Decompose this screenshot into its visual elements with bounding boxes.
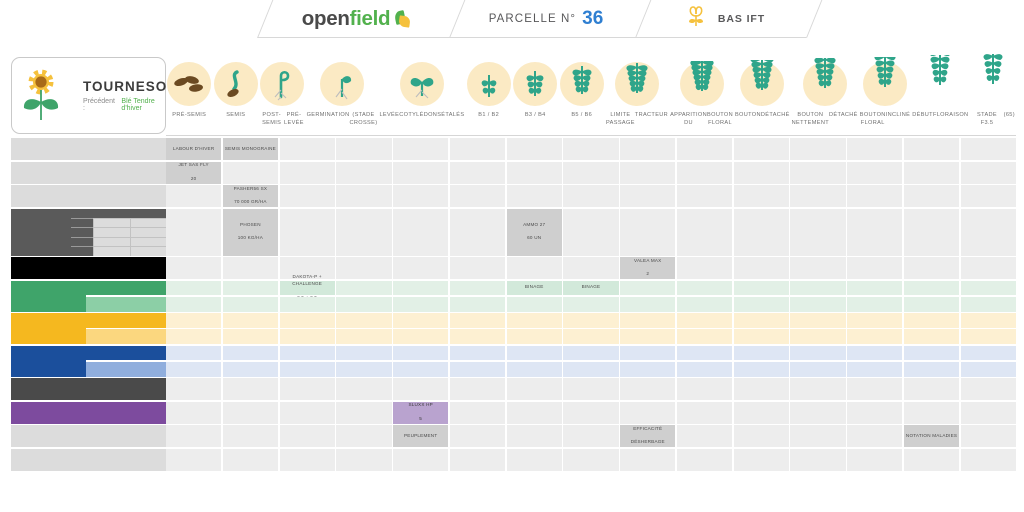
cell-row: JET SAS FLY20	[166, 162, 1016, 184]
cell-empty[interactable]	[961, 329, 1016, 344]
cell-empty[interactable]	[280, 313, 335, 328]
stage-column-4[interactable]: GERMINATION(STADE CROSSE)	[306, 44, 379, 136]
plant-6leaf-icon	[560, 62, 604, 106]
stage-column-3[interactable]: POST-SEMISPRÉ-LEVÉE	[259, 44, 306, 136]
plant-bud-icon	[680, 62, 724, 106]
cell-empty[interactable]	[961, 162, 1016, 184]
cell-empty[interactable]	[166, 185, 221, 207]
plant-tall-icon	[615, 62, 659, 106]
cell-empty[interactable]	[507, 297, 562, 312]
cell-empty[interactable]	[620, 281, 675, 296]
cell-empty[interactable]	[677, 449, 732, 471]
cell-empty[interactable]	[620, 297, 675, 312]
stage-column-10[interactable]: APPARITION DUBOUTON FLORAL	[669, 44, 734, 136]
cell-empty[interactable]	[677, 257, 732, 279]
cell-empty[interactable]	[336, 402, 391, 424]
stage-column-2[interactable]: SEMIS	[213, 44, 260, 136]
row-label	[11, 138, 166, 160]
engrais-realise-value	[130, 237, 167, 246]
cell-empty[interactable]	[280, 425, 335, 447]
cell-empty[interactable]	[790, 329, 845, 344]
cell-empty[interactable]	[904, 209, 959, 256]
cell-empty[interactable]	[450, 297, 505, 312]
cell-empty[interactable]	[450, 162, 505, 184]
cell-empty[interactable]	[393, 138, 448, 160]
cell-filled[interactable]: LABOUR D'HIVER	[166, 138, 221, 160]
cell-empty[interactable]	[790, 362, 845, 377]
cell-row: DAKOTA-P + CHALLENGE2.5 + 2.5BINAGEBINAG…	[166, 281, 1016, 296]
cell-empty[interactable]	[223, 257, 278, 279]
cell-empty[interactable]	[677, 378, 732, 400]
cell-empty[interactable]	[904, 281, 959, 296]
cell-empty[interactable]	[336, 281, 391, 296]
cell-empty[interactable]	[847, 378, 902, 400]
cell-empty[interactable]	[450, 209, 505, 256]
cell-empty[interactable]	[620, 378, 675, 400]
cell-empty[interactable]	[904, 378, 959, 400]
cell-empty[interactable]	[507, 329, 562, 344]
cell-empty[interactable]	[166, 449, 221, 471]
herbicides-sub-2	[86, 297, 166, 312]
cell-empty[interactable]	[393, 362, 448, 377]
cell-empty[interactable]	[450, 281, 505, 296]
cell-empty[interactable]	[393, 313, 448, 328]
bud-inclined-icon	[863, 62, 907, 106]
cell-empty[interactable]	[450, 329, 505, 344]
stage-column-8[interactable]: B5 / B6	[558, 44, 605, 136]
cell-empty[interactable]	[507, 449, 562, 471]
cell-empty[interactable]	[677, 138, 732, 160]
cell-empty[interactable]	[280, 185, 335, 207]
cell-empty[interactable]	[961, 281, 1016, 296]
cell-empty[interactable]	[450, 185, 505, 207]
cell-empty[interactable]	[790, 425, 845, 447]
cell-empty[interactable]	[790, 402, 845, 424]
cell-filled[interactable]: SEMIS MONOGRAINE	[223, 138, 278, 160]
insecticides-block	[11, 313, 1016, 344]
cell-empty[interactable]	[393, 185, 448, 207]
cell-empty[interactable]	[734, 138, 789, 160]
cell-empty[interactable]	[223, 281, 278, 296]
engrais-col-conseille	[93, 209, 130, 218]
row-label	[11, 162, 166, 184]
cell-filled[interactable]: BINAGE	[507, 281, 562, 296]
cell-empty[interactable]	[677, 162, 732, 184]
cell-tag: SLUXX HP5	[393, 402, 448, 424]
cell-empty[interactable]	[563, 138, 618, 160]
cell-empty[interactable]	[393, 162, 448, 184]
cell-empty[interactable]	[620, 185, 675, 207]
cell-empty[interactable]	[847, 257, 902, 279]
cell-empty[interactable]	[790, 257, 845, 279]
stage-icon-wrap	[615, 46, 659, 106]
cell-empty[interactable]	[223, 313, 278, 328]
cell-empty[interactable]	[734, 402, 789, 424]
seeds-icon	[167, 62, 211, 106]
cell-empty[interactable]	[961, 313, 1016, 328]
cell-empty[interactable]	[961, 257, 1016, 279]
cell-empty[interactable]	[280, 297, 335, 312]
cell-empty[interactable]	[677, 402, 732, 424]
stage-label: POST-SEMISPRÉ-LEVÉE	[259, 111, 306, 133]
cell-empty[interactable]	[734, 209, 789, 256]
cell-empty[interactable]	[847, 425, 902, 447]
cell-empty[interactable]	[563, 425, 618, 447]
cell-empty[interactable]	[847, 329, 902, 344]
cell-empty[interactable]	[677, 425, 732, 447]
cell-empty[interactable]	[336, 162, 391, 184]
cell-empty[interactable]	[507, 378, 562, 400]
fongicides-sub-2	[86, 362, 166, 377]
cell-empty[interactable]	[677, 313, 732, 328]
stage-column-12[interactable]: BOUTON NETTEMENTDÉTACHÉ	[791, 44, 859, 136]
cell-empty[interactable]	[790, 297, 845, 312]
cell-filled[interactable]: NOTATION MALADIES	[904, 425, 959, 447]
cell-empty[interactable]	[677, 185, 732, 207]
cell-empty[interactable]	[507, 402, 562, 424]
cell-empty[interactable]	[450, 449, 505, 471]
cell-empty[interactable]	[790, 162, 845, 184]
flower-icon	[683, 3, 709, 34]
engrais-nutrient-key	[71, 246, 93, 255]
cell-empty[interactable]	[223, 449, 278, 471]
cell-empty[interactable]	[507, 162, 562, 184]
cell-empty[interactable]	[790, 209, 845, 256]
stage-label: APPARITION DUBOUTON FLORAL	[669, 111, 734, 133]
stage-icon-wrap	[918, 46, 962, 106]
engrais-conseille-value	[93, 237, 130, 246]
cell-empty[interactable]	[563, 185, 618, 207]
stage-column-7[interactable]: B3 / B4	[512, 44, 559, 136]
cell-empty[interactable]	[280, 346, 335, 361]
engrais-label	[11, 209, 71, 256]
cell-empty[interactable]	[166, 329, 221, 344]
cell-empty[interactable]	[620, 313, 675, 328]
cell-empty[interactable]	[450, 378, 505, 400]
cell-empty[interactable]	[620, 402, 675, 424]
row-label	[11, 449, 166, 471]
cell-empty[interactable]	[847, 313, 902, 328]
cell-empty[interactable]	[280, 162, 335, 184]
engrais-corner	[71, 209, 93, 218]
cell-filled[interactable]: PEUPLEMENT	[393, 425, 448, 447]
cell-empty[interactable]	[336, 346, 391, 361]
cell-empty[interactable]	[904, 313, 959, 328]
cell-empty[interactable]	[450, 313, 505, 328]
cell-empty[interactable]	[961, 297, 1016, 312]
cell-empty[interactable]	[790, 313, 845, 328]
cell-empty[interactable]	[734, 425, 789, 447]
cell-empty[interactable]	[847, 297, 902, 312]
cell-empty[interactable]	[563, 449, 618, 471]
cell-empty[interactable]	[450, 362, 505, 377]
stage-label: LIMITE PASSAGETRACTEUR	[605, 111, 669, 133]
cell-empty[interactable]	[847, 346, 902, 361]
cell-empty[interactable]	[904, 257, 959, 279]
cell-empty[interactable]	[904, 162, 959, 184]
cell-empty[interactable]	[677, 297, 732, 312]
cell-empty[interactable]	[734, 281, 789, 296]
cell-empty[interactable]	[961, 449, 1016, 471]
cell-empty[interactable]	[790, 346, 845, 361]
cell-empty[interactable]	[507, 425, 562, 447]
cell-empty[interactable]	[223, 402, 278, 424]
cell-filled[interactable]: EFFICACITÉDÉSHERBAGE	[620, 425, 675, 447]
tab-bas-ift[interactable]: BAS IFT	[636, 0, 806, 38]
cell-row: PASHER56 SX70 000 GR/HA	[166, 185, 1016, 207]
cell-empty[interactable]	[393, 257, 448, 279]
cell-empty[interactable]	[507, 185, 562, 207]
stage-column-13[interactable]: BOUTON FLORALINCLINÉ	[859, 44, 911, 136]
stage-label: B1 / B2	[477, 111, 500, 133]
cell-empty[interactable]	[847, 162, 902, 184]
cell-empty[interactable]	[563, 297, 618, 312]
cell-tag: BINAGE	[507, 281, 562, 296]
cell-empty[interactable]	[507, 362, 562, 377]
cell-empty[interactable]	[223, 425, 278, 447]
cell-filled[interactable]: PASHER56 SX70 000 GR/HA	[223, 185, 278, 207]
cell-empty[interactable]	[336, 297, 391, 312]
cell-empty[interactable]	[734, 362, 789, 377]
cell-empty[interactable]	[904, 138, 959, 160]
cell-empty[interactable]	[280, 378, 335, 400]
stage-divider	[166, 135, 1016, 136]
cell-empty[interactable]	[734, 346, 789, 361]
cell-empty[interactable]	[166, 257, 221, 279]
cell-empty[interactable]	[847, 209, 902, 256]
stage-column-15[interactable]: STADE F3.5(65)	[969, 44, 1016, 136]
cell-empty[interactable]	[336, 257, 391, 279]
cell-empty[interactable]	[223, 162, 278, 184]
cell-empty[interactable]	[280, 362, 335, 377]
stage-icon-wrap	[680, 46, 724, 106]
insecticides-label	[11, 313, 86, 344]
engrais-nutrient-row	[71, 218, 166, 227]
cell-empty[interactable]	[336, 425, 391, 447]
cell-empty[interactable]	[223, 329, 278, 344]
engrais-nutrient-key	[71, 227, 93, 236]
cell-empty[interactable]	[223, 346, 278, 361]
cell-empty[interactable]	[904, 362, 959, 377]
cell-empty[interactable]	[847, 138, 902, 160]
cell-filled[interactable]: JET SAS FLY20	[166, 162, 221, 184]
cell-empty[interactable]	[280, 209, 335, 256]
cell-empty[interactable]	[393, 378, 448, 400]
cell-empty[interactable]	[904, 297, 959, 312]
cell-empty[interactable]	[393, 346, 448, 361]
engrais-col-realise	[130, 209, 167, 218]
cell-filled[interactable]: VALEA MAX2	[620, 257, 675, 279]
cell-row: LABOUR D'HIVERSEMIS MONOGRAINE	[166, 138, 1016, 160]
crop-name: TOURNESOL	[83, 79, 177, 94]
cell-empty[interactable]	[961, 378, 1016, 400]
cell-empty[interactable]	[904, 402, 959, 424]
cell-row: PHOSEN100 KG/HAAMMO 2760 UN	[166, 209, 1016, 256]
cell-empty[interactable]	[847, 362, 902, 377]
cell-empty[interactable]	[961, 138, 1016, 160]
cell-empty[interactable]	[790, 185, 845, 207]
cell-empty[interactable]	[563, 209, 618, 256]
cell-empty[interactable]	[166, 281, 221, 296]
cell-empty[interactable]	[393, 281, 448, 296]
cell-empty[interactable]	[507, 346, 562, 361]
cell-empty[interactable]	[847, 449, 902, 471]
tab-parcelle[interactable]: PARCELLE N° 36	[450, 0, 636, 38]
cell-empty[interactable]	[620, 329, 675, 344]
row-label	[11, 185, 166, 207]
seedling-icon	[320, 62, 364, 106]
cell-empty[interactable]	[734, 449, 789, 471]
cell-empty[interactable]	[620, 449, 675, 471]
cell-empty[interactable]	[450, 425, 505, 447]
cell-empty[interactable]	[620, 138, 675, 160]
cell-empty[interactable]	[450, 257, 505, 279]
cell-empty[interactable]	[961, 346, 1016, 361]
cell-empty[interactable]	[393, 329, 448, 344]
stage-column-11[interactable]: BOUTONDÉTACHÉ	[734, 44, 791, 136]
cell-empty[interactable]	[961, 425, 1016, 447]
cell-empty[interactable]	[166, 425, 221, 447]
cell-empty[interactable]	[223, 297, 278, 312]
cell-empty[interactable]	[620, 346, 675, 361]
cell-empty[interactable]	[507, 257, 562, 279]
cell-empty[interactable]	[790, 281, 845, 296]
row-label	[11, 378, 166, 400]
cell-empty[interactable]	[280, 329, 335, 344]
stage-column-6[interactable]: B1 / B2	[465, 44, 512, 136]
stage-icon-wrap	[971, 46, 1015, 106]
cell-empty[interactable]	[336, 138, 391, 160]
cell-empty[interactable]	[790, 449, 845, 471]
cell-empty[interactable]	[563, 329, 618, 344]
plant-2leaf-icon	[467, 62, 511, 106]
cell-empty[interactable]	[166, 378, 221, 400]
stage-column-9[interactable]: LIMITE PASSAGETRACTEUR	[605, 44, 669, 136]
cell-empty[interactable]	[563, 346, 618, 361]
cell-filled[interactable]: SLUXX HP5	[393, 402, 448, 424]
cell-empty[interactable]	[166, 346, 221, 361]
cell-empty[interactable]	[961, 209, 1016, 256]
cell-empty[interactable]	[336, 378, 391, 400]
cell-empty[interactable]	[450, 346, 505, 361]
cell-empty[interactable]	[734, 297, 789, 312]
cell-empty[interactable]	[961, 362, 1016, 377]
cell-empty[interactable]	[734, 257, 789, 279]
cell-empty[interactable]	[904, 329, 959, 344]
cell-filled[interactable]: BINAGE	[563, 281, 618, 296]
cell-empty[interactable]	[393, 449, 448, 471]
cell-empty[interactable]	[677, 346, 732, 361]
cell-empty[interactable]	[734, 329, 789, 344]
cell-empty[interactable]	[847, 281, 902, 296]
cell-empty[interactable]	[563, 313, 618, 328]
cell-empty[interactable]	[563, 402, 618, 424]
cell-row	[166, 378, 1016, 400]
cell-empty[interactable]	[280, 402, 335, 424]
stage-label: BOUTONDÉTACHÉ	[734, 111, 791, 133]
cell-empty[interactable]	[677, 281, 732, 296]
engrais-nutrient-row	[71, 237, 166, 246]
cell-empty[interactable]	[336, 209, 391, 256]
cell-empty[interactable]	[677, 329, 732, 344]
stage-label: B5 / B6	[570, 111, 593, 133]
cell-empty[interactable]	[904, 185, 959, 207]
cell-empty[interactable]	[904, 449, 959, 471]
cell-empty[interactable]	[961, 185, 1016, 207]
cell-empty[interactable]	[790, 378, 845, 400]
cell-filled[interactable]: AMMO 2760 UN	[507, 209, 562, 256]
cell-empty[interactable]	[790, 138, 845, 160]
cell-empty[interactable]	[450, 402, 505, 424]
cell-tag: SEMIS MONOGRAINE	[223, 138, 278, 160]
cell-empty[interactable]	[393, 209, 448, 256]
cell-row: PEUPLEMENTEFFICACITÉDÉSHERBAGENOTATION M…	[166, 425, 1016, 447]
cell-empty[interactable]	[563, 362, 618, 377]
row-label	[11, 425, 166, 447]
crop-card: TOURNESOL Précédent : Blé Tendre d'hiver	[11, 57, 166, 134]
cell-empty[interactable]	[166, 313, 221, 328]
engrais-nutrient-key	[71, 237, 93, 246]
cell-empty[interactable]	[166, 402, 221, 424]
stage-icon-wrap	[740, 46, 784, 106]
cell-empty[interactable]	[336, 313, 391, 328]
cell-empty[interactable]	[223, 362, 278, 377]
cell-empty[interactable]	[336, 362, 391, 377]
cell-row	[166, 329, 1016, 344]
cell-empty[interactable]	[904, 346, 959, 361]
cell-empty[interactable]	[280, 449, 335, 471]
cell-empty[interactable]	[620, 162, 675, 184]
cell-empty[interactable]	[393, 297, 448, 312]
cell-empty[interactable]	[336, 185, 391, 207]
cell-filled[interactable]: DAKOTA-P + CHALLENGE2.5 + 2.5	[280, 281, 335, 296]
cell-empty[interactable]	[166, 297, 221, 312]
cell-tag: EFFICACITÉDÉSHERBAGE	[620, 425, 675, 447]
cell-empty[interactable]	[507, 138, 562, 160]
cell-empty[interactable]	[734, 162, 789, 184]
cell-empty[interactable]	[847, 402, 902, 424]
cell-empty[interactable]	[336, 329, 391, 344]
timeline-row	[11, 378, 1016, 400]
cell-empty[interactable]	[677, 362, 732, 377]
stage-column-5[interactable]: LEVÉECOTYLÉDONSÉTALÉS	[378, 44, 465, 136]
cell-empty[interactable]	[620, 362, 675, 377]
cell-empty[interactable]	[734, 378, 789, 400]
herbicides-cells: DAKOTA-P + CHALLENGE2.5 + 2.5BINAGEBINAG…	[166, 281, 1016, 312]
cell-empty[interactable]	[734, 185, 789, 207]
cell-empty[interactable]	[166, 209, 221, 256]
cell-empty[interactable]	[280, 138, 335, 160]
cell-filled[interactable]: PHOSEN100 KG/HA	[223, 209, 278, 256]
leaf-icon	[395, 11, 412, 28]
cell-empty[interactable]	[563, 257, 618, 279]
cell-empty[interactable]	[223, 378, 278, 400]
cell-empty[interactable]	[734, 313, 789, 328]
cell-tag: PHOSEN100 KG/HA	[223, 209, 278, 256]
cell-empty[interactable]	[507, 313, 562, 328]
cell-empty[interactable]	[677, 209, 732, 256]
cell-empty[interactable]	[563, 378, 618, 400]
cell-empty[interactable]	[961, 402, 1016, 424]
cell-empty[interactable]	[336, 449, 391, 471]
cell-empty[interactable]	[563, 162, 618, 184]
stage-column-1[interactable]: PRÉ-SEMIS	[166, 44, 213, 136]
cell-empty[interactable]	[620, 209, 675, 256]
stage-column-14[interactable]: DÉBUTFLORAISON	[911, 44, 969, 136]
cell-empty[interactable]	[847, 185, 902, 207]
cell-empty[interactable]	[450, 138, 505, 160]
cell-empty[interactable]	[166, 362, 221, 377]
